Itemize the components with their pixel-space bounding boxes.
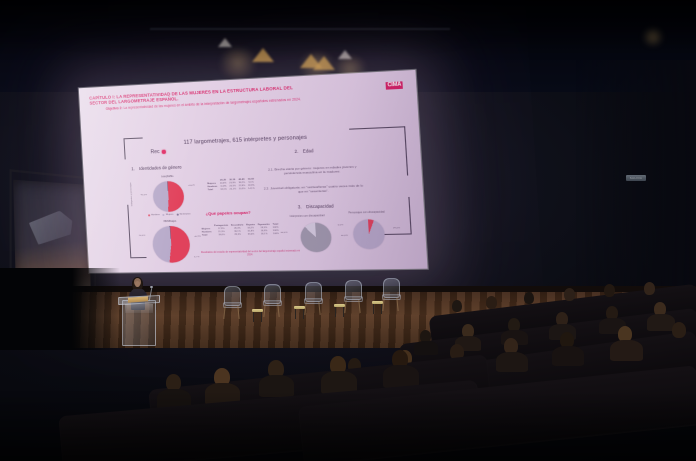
bullet-2-1: 2.1. Brecha etaria por género: mujeres e… [260,164,365,176]
audience-shoulders [414,341,438,355]
exit-sign: SALIDA [626,175,646,181]
roles-r2-c4: 18,1% [257,233,272,237]
legend-label-hombres: Hombres [151,214,160,216]
pie-label-mujeres-interpretes: 48,1% [137,194,151,197]
question-papeles: ¿Qué papeles ocupan? [206,210,251,216]
section-2-label: Edad [303,148,314,154]
legend-item-mujeres: Mujeres [163,214,174,216]
legend-label-mujeres: Mujeres [166,214,174,216]
bullet-2-1-text: Brecha etaria por género: mujeres en eda… [274,164,356,175]
pie-label-hombres-interpretes: 51,2% [184,184,199,188]
roles-r2-c1: 19,6% [213,234,230,238]
pie-label-mujeres-personajes: 46,9% [135,235,149,238]
section-heading-age: 2. Edad [294,148,313,154]
pie-label-disc-interpretes-sin: 88,0% [272,232,296,236]
side-table [252,309,263,322]
legend-item-nobinarias: No binarias [177,213,191,215]
age-r2-c0: Total [206,189,219,193]
audience-head [486,296,497,309]
audience-shoulders [647,314,675,331]
roles-r2-c0: Total [201,235,214,238]
side-table [372,301,383,314]
pie-chart-personajes [152,226,191,263]
auditorium-photo: CAPÍTULO I: LA REPRESENTATIVIDAD DE LAS … [0,0,696,461]
bullet-2-2-text: Juventud obligatoria: en "veinteañeras" … [270,183,363,194]
section-1-label: Identidades de género [139,164,182,171]
pie-axis-label-left: Intérpretes y personajes [130,182,133,206]
age-r2-c4: 14,1% [247,188,257,191]
projection-screen: CAPÍTULO I: LA REPRESENTATIVIDAD DE LAS … [79,70,428,273]
pie-label-nobinarios-personajes: 0,7% [161,220,176,223]
side-table [334,304,345,317]
section-2-number: 2. [294,149,298,154]
age-r2-c2: 22,1% [228,189,237,192]
bullet-2-2-number: 2.2. [264,186,270,190]
roles-table: Protagonista Secundario Reparto Figuraci… [200,224,280,239]
stage-left-shadow [0,268,120,350]
pie-chart-disc-personajes [352,219,385,249]
pie-legend-interpretes: Hombres Mujeres No binarias [148,213,190,216]
section-heading-disability: 3. Discapacidad [298,203,334,209]
bullet-2-1-number: 2.1. [268,167,274,171]
legend-label-nobinarias: No binarias [180,213,191,215]
table-row: Total 19,6% 29,3% 33,0% 18,1% 100% [201,233,281,238]
audience-head [672,322,686,338]
audience-shoulders [496,352,528,372]
audience-shoulders [552,346,584,366]
chart-title-disc-personajes: Personajes con discapacidad [347,210,385,214]
rec-label: Rec [150,149,159,155]
audience-head [452,300,462,312]
bracket-top-left [123,137,143,159]
audience-head [644,282,655,295]
pie-label-disc-personajes-con: 6,0% [328,224,352,228]
audience-head [524,292,534,304]
audience-head [564,288,575,301]
lectern [122,300,156,346]
section-3-number: 3. [298,204,302,209]
projected-slide: CAPÍTULO I: LA REPRESENTATIVIDAD DE LAS … [79,70,428,273]
slide-objective-label: Objetivo 2: [106,106,123,111]
audience-shoulders [610,340,643,361]
bracket-bottom-left-foot [130,257,146,258]
pie-label-disc-personajes-sin: 94,0% [384,227,409,231]
section-1-number: 1. [131,166,135,171]
pie-chart-disc-interpretes [300,222,332,252]
age-distribution-table: 20-29 30-39 40-49 50-59 Mujeres 24,6% 23… [206,178,257,192]
bracket-top-right [349,126,405,129]
age-r2-c1: 18,1% [219,189,228,192]
cima-logo: CIMA [385,81,405,89]
pie-label-nobinarias-interpretes: 0,7% [162,175,177,179]
pie-chart-interpretes [152,181,184,212]
bullet-2-2: 2.2. Juventud obligatoria: en "veinteañe… [261,183,366,195]
slide-footnote: Resultados del estudio de representativi… [200,250,302,258]
audience-head [604,284,615,297]
rec-indicator: Rec [150,149,165,156]
rec-dot-icon [162,150,166,154]
bottom-vignette [0,391,696,461]
section-3-label: Discapacidad [306,203,334,209]
cima-logo-mark: CIMA [385,81,403,89]
bracket-bottom-left [127,205,131,258]
side-table [294,306,305,319]
age-r2-c3: 20,5% [237,188,246,191]
slide-content: CAPÍTULO I: LA REPRESENTATIVIDAD DE LAS … [79,70,428,273]
top-vignette [0,0,696,60]
legend-item-hombres: Hombres [148,214,160,216]
section-heading-gender: 1. Identidades de género [131,164,182,171]
roles-r2-c3: 33,0% [245,234,257,237]
roles-r2-c2: 29,3% [230,234,246,238]
chart-title-disc-interpretes: Intérpretes con discapacidad [289,214,326,218]
